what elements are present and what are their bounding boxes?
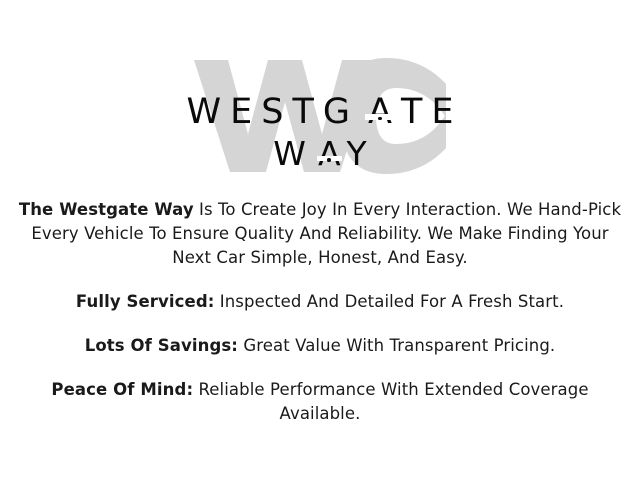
paragraph-intro: The Westgate Way Is To Create Joy In Eve… [12,198,628,270]
dealer-logo: WESTGATE WAY [0,48,640,183]
wordmark-letter: A [368,92,401,132]
wordmark-letter-a: A [312,134,347,173]
wordmark-letter: Y [347,134,373,173]
paragraph-lots-of-savings: Lots Of Savings: Great Value With Transp… [12,334,628,358]
wordmark-letter: T [401,92,431,132]
paragraph-peace-of-mind: Peace Of Mind: Reliable Performance With… [12,378,628,426]
paragraph-fully-serviced: Fully Serviced: Inspected And Detailed F… [12,290,628,314]
a-dot-icon [378,117,382,121]
paragraph-lead: Peace Of Mind: [51,380,193,399]
wordmark-letter: T [292,92,322,132]
wordmark: WESTGATE WAY [0,48,640,183]
wordmark-letter: W [187,92,231,132]
paragraph-lead: Lots Of Savings: [85,336,238,355]
wordmark-letter: G [323,92,359,132]
promo-card: WESTGATE WAY The Westgate Way Is To Crea… [0,0,640,480]
wordmark-letter: S [261,92,292,132]
wordmark-letter: A [318,134,347,173]
wordmark-secondary: WAY [0,134,640,173]
wordmark-letter: W [273,134,312,173]
wordmark-primary: WESTGATE [0,92,640,132]
paragraph-lead: Fully Serviced: [76,292,215,311]
wordmark-letter: E [230,92,261,132]
paragraph-lead: The Westgate Way [19,200,194,219]
wordmark-letter-a: A [359,92,401,132]
paragraph-body: Great Value With Transparent Pricing. [238,336,555,355]
wordmark-letter: E [431,92,462,132]
paragraph-body: Inspected And Detailed For A Fresh Start… [214,292,564,311]
a-dot-icon [327,158,331,162]
paragraph-body: Reliable Performance With Extended Cover… [193,380,588,423]
value-proposition-copy: The Westgate Way Is To Create Joy In Eve… [12,198,628,426]
